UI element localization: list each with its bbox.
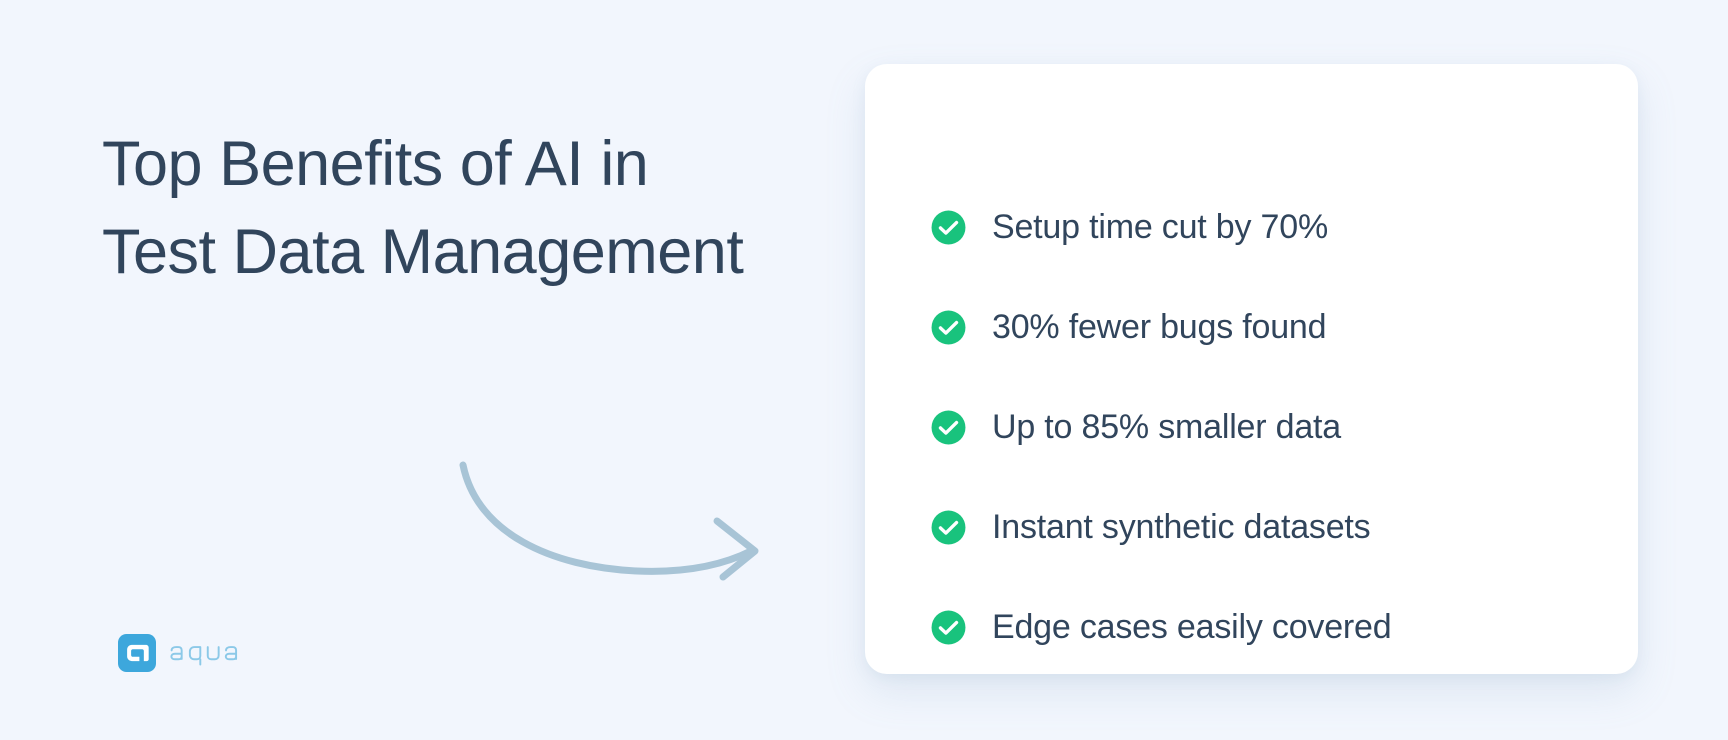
list-item-label: 30% fewer bugs found [992, 307, 1326, 347]
list-item: 30% fewer bugs found [930, 277, 1580, 377]
check-circle-icon [930, 509, 967, 546]
list-item: Setup time cut by 70% [930, 177, 1580, 277]
aqua-chat-bubble-logo-icon [118, 634, 156, 672]
check-circle-icon [930, 309, 967, 346]
list-item: Up to 85% smaller data [930, 377, 1580, 477]
check-circle-icon [930, 209, 967, 246]
page-title: Top Benefits of AI in Test Data Manageme… [102, 120, 762, 296]
list-item: Instant synthetic datasets [930, 477, 1580, 577]
benefits-list: Setup time cut by 70% 30% fewer bugs fou… [930, 177, 1580, 677]
list-item-label: Instant synthetic datasets [992, 507, 1370, 547]
list-item-label: Edge cases easily covered [992, 607, 1391, 647]
aqua-logo[interactable] [118, 634, 251, 672]
infographic-canvas: Top Benefits of AI in Test Data Manageme… [0, 0, 1728, 740]
check-circle-icon [930, 609, 967, 646]
list-item-label: Setup time cut by 70% [992, 207, 1328, 247]
left-column: Top Benefits of AI in Test Data Manageme… [102, 120, 762, 680]
benefits-card: Setup time cut by 70% 30% fewer bugs fou… [865, 64, 1638, 674]
check-circle-icon [930, 409, 967, 446]
list-item: Edge cases easily covered [930, 577, 1580, 677]
aqua-wordmark [169, 638, 251, 668]
list-item-label: Up to 85% smaller data [992, 407, 1341, 447]
